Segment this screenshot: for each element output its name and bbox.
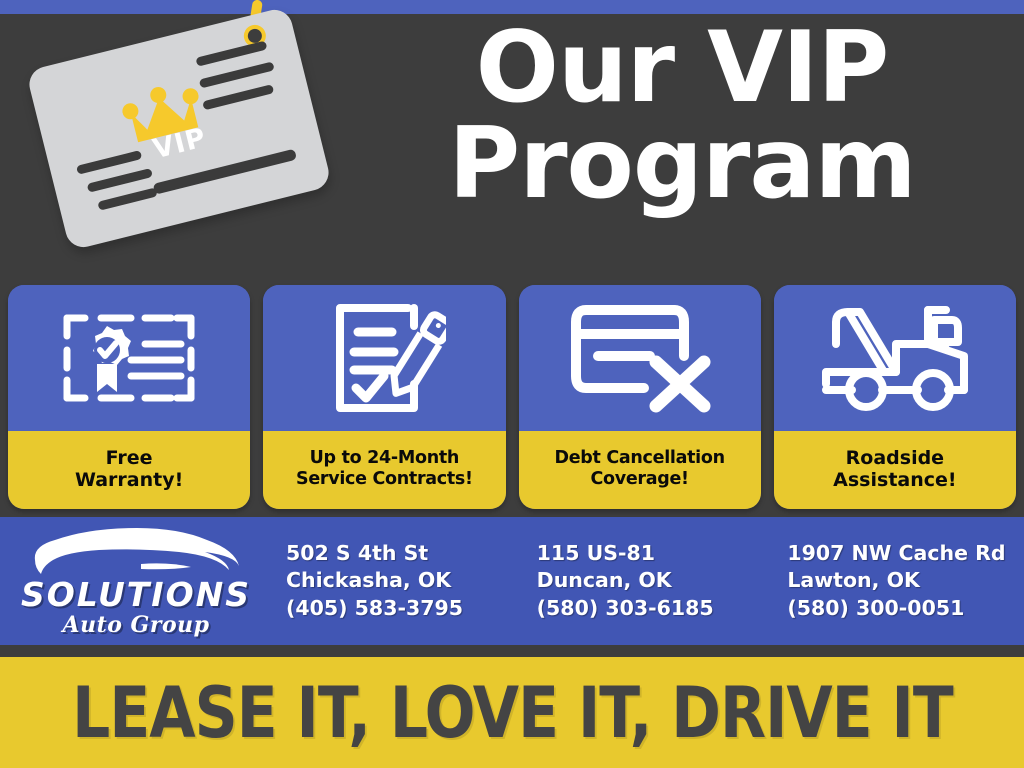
brand-tagline: Auto Group — [63, 614, 210, 636]
feature-label-line-1: Roadside — [846, 447, 944, 469]
feature-icon-wrap — [263, 285, 505, 431]
badge-line — [76, 150, 142, 175]
feature-icon-wrap — [774, 285, 1016, 431]
badge-line — [87, 168, 153, 193]
location-street: 115 US-81 — [537, 540, 774, 567]
feature-label-line-2: Assistance! — [833, 469, 956, 491]
vip-program-advertisement: VIP Our VIP Program — [0, 0, 1024, 768]
location-city: Chickasha, OK — [286, 567, 523, 594]
feature-label-line-1: Free — [106, 447, 153, 469]
feature-icon-wrap — [8, 285, 250, 431]
location-phone[interactable]: (580) 300-0051 — [787, 595, 1024, 622]
document-signing-pen-icon — [322, 300, 446, 416]
location-phone[interactable]: (580) 303-6185 — [537, 595, 774, 622]
credit-card-cancelled-icon — [566, 300, 714, 416]
badge-line — [195, 41, 267, 67]
car-silhouette-icon — [29, 526, 244, 580]
location-chickasha[interactable]: 502 S 4th St Chickasha, OK (405) 583-379… — [272, 540, 523, 621]
feature-card-debt-cancellation[interactable]: Debt Cancellation Coverage! — [519, 285, 761, 509]
brand-logo[interactable]: SOLUTIONS Auto Group — [0, 525, 272, 637]
feature-card-service-contracts[interactable]: Up to 24-Month Service Contracts! — [263, 285, 505, 509]
feature-label-line-2: Coverage! — [590, 469, 688, 489]
page-title-line-2: Program — [362, 116, 1002, 212]
feature-label: Debt Cancellation Coverage! — [519, 431, 761, 509]
location-lawton[interactable]: 1907 NW Cache Rd Lawton, OK (580) 300-00… — [773, 540, 1024, 621]
feature-card-roadside-assistance[interactable]: Roadside Assistance! — [774, 285, 1016, 509]
location-street: 1907 NW Cache Rd — [787, 540, 1024, 567]
page-title-line-1: Our VIP — [362, 20, 1002, 116]
locations-list: 502 S 4th St Chickasha, OK (405) 583-379… — [272, 517, 1024, 645]
brand-name: SOLUTIONS — [21, 578, 251, 611]
location-city: Lawton, OK — [787, 567, 1024, 594]
feature-label-line-1: Up to 24-Month — [310, 448, 459, 468]
hero-section: VIP Our VIP Program — [0, 14, 1024, 279]
feature-cards-row: Free Warranty! — [8, 285, 1016, 509]
badge-line — [97, 187, 157, 210]
feature-icon-wrap — [519, 285, 761, 431]
footer-tagline-band: LEASE IT, LOVE IT, DRIVE IT — [0, 657, 1024, 768]
badge-line — [202, 84, 274, 110]
feature-label-line-2: Warranty! — [75, 469, 183, 491]
certificate-award-icon — [59, 306, 199, 410]
location-street: 502 S 4th St — [286, 540, 523, 567]
feature-label: Free Warranty! — [8, 431, 250, 509]
feature-label: Roadside Assistance! — [774, 431, 1016, 509]
locations-band: SOLUTIONS Auto Group 502 S 4th St Chicka… — [0, 517, 1024, 645]
badge-card-body: VIP — [26, 6, 333, 251]
location-duncan[interactable]: 115 US-81 Duncan, OK (580) 303-6185 — [523, 540, 774, 621]
tow-truck-icon — [818, 302, 972, 414]
location-city: Duncan, OK — [537, 567, 774, 594]
location-phone[interactable]: (405) 583-3795 — [286, 595, 523, 622]
feature-label: Up to 24-Month Service Contracts! — [263, 431, 505, 509]
feature-card-free-warranty[interactable]: Free Warranty! — [8, 285, 250, 509]
footer-tagline: LEASE IT, LOVE IT, DRIVE IT — [72, 678, 953, 748]
feature-label-line-2: Service Contracts! — [296, 469, 473, 489]
page-title: Our VIP Program — [362, 20, 1002, 212]
feature-label-line-1: Debt Cancellation — [554, 448, 724, 468]
badge-line — [199, 61, 275, 88]
vip-membership-card-icon: VIP — [28, 14, 358, 284]
